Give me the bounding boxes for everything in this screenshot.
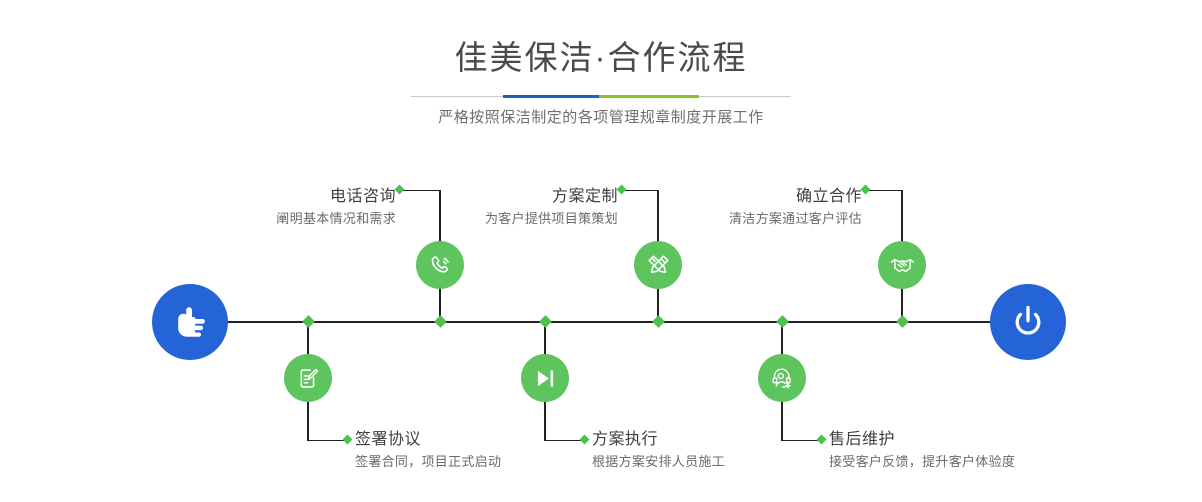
step-icon-4[interactable] — [521, 354, 569, 402]
step-title-5: 确立合作 — [670, 186, 862, 208]
play-execute-icon — [532, 365, 559, 392]
step-label-1: 电话咨询 阐明基本情况和需求 — [200, 186, 396, 230]
label-marker-2 — [343, 435, 353, 445]
timeline: 电话咨询 阐明基本情况和需求 签署协议 签署合同，项目正式启动 — [0, 0, 1202, 502]
step-title-6: 售后维护 — [829, 429, 1015, 451]
step-icon-5[interactable] — [878, 241, 926, 289]
label-marker-1 — [395, 185, 405, 195]
connector-horizontal-6 — [781, 440, 821, 442]
label-marker-3 — [617, 185, 627, 195]
step-label-5: 确立合作 清洁方案通过客户评估 — [670, 186, 862, 230]
step-desc-5: 清洁方案通过客户评估 — [670, 208, 862, 230]
step-title-4: 方案执行 — [592, 429, 725, 451]
step-icon-1[interactable] — [416, 241, 464, 289]
connector-horizontal-3 — [622, 190, 658, 192]
handshake-icon — [889, 252, 916, 279]
connector-horizontal-4 — [544, 440, 584, 442]
step-title-1: 电话咨询 — [200, 186, 396, 208]
timeline-marker-3 — [652, 315, 665, 328]
step-desc-2: 签署合同，项目正式启动 — [355, 451, 501, 473]
step-label-3: 方案定制 为客户提供项目策策划 — [420, 186, 618, 230]
step-label-2: 签署协议 签署合同，项目正式启动 — [355, 429, 501, 473]
label-marker-4 — [580, 435, 590, 445]
label-marker-6 — [817, 435, 827, 445]
step-icon-2[interactable] — [284, 354, 332, 402]
power-icon — [1007, 301, 1049, 343]
step-icon-6[interactable] — [758, 354, 806, 402]
step-label-4: 方案执行 根据方案安排人员施工 — [592, 429, 725, 473]
connector-horizontal-2 — [307, 440, 347, 442]
step-desc-3: 为客户提供项目策策划 — [420, 208, 618, 230]
step-title-3: 方案定制 — [420, 186, 618, 208]
customer-service-add-icon — [769, 365, 796, 392]
pencil-ruler-icon — [645, 252, 672, 279]
connector-horizontal-1 — [400, 190, 440, 192]
pointing-hand-icon — [169, 301, 211, 343]
timeline-marker-4 — [539, 315, 552, 328]
process-flow-infographic: 佳美保洁·合作流程 严格按照保洁制定的各项管理规章制度开展工作 — [0, 0, 1202, 502]
phone-call-icon — [427, 252, 454, 279]
step-label-6: 售后维护 接受客户反馈，提升客户体验度 — [829, 429, 1015, 473]
timeline-marker-5 — [896, 315, 909, 328]
timeline-marker-1 — [434, 315, 447, 328]
timeline-marker-6 — [776, 315, 789, 328]
step-title-2: 签署协议 — [355, 429, 501, 451]
step-desc-6: 接受客户反馈，提升客户体验度 — [829, 451, 1015, 473]
timeline-marker-2 — [302, 315, 315, 328]
timeline-end-node[interactable] — [990, 284, 1066, 360]
step-desc-4: 根据方案安排人员施工 — [592, 451, 725, 473]
connector-horizontal-5 — [866, 190, 902, 192]
step-icon-3[interactable] — [634, 241, 682, 289]
step-desc-1: 阐明基本情况和需求 — [200, 208, 396, 230]
document-edit-icon — [295, 365, 322, 392]
label-marker-5 — [861, 185, 871, 195]
timeline-start-node[interactable] — [152, 284, 228, 360]
